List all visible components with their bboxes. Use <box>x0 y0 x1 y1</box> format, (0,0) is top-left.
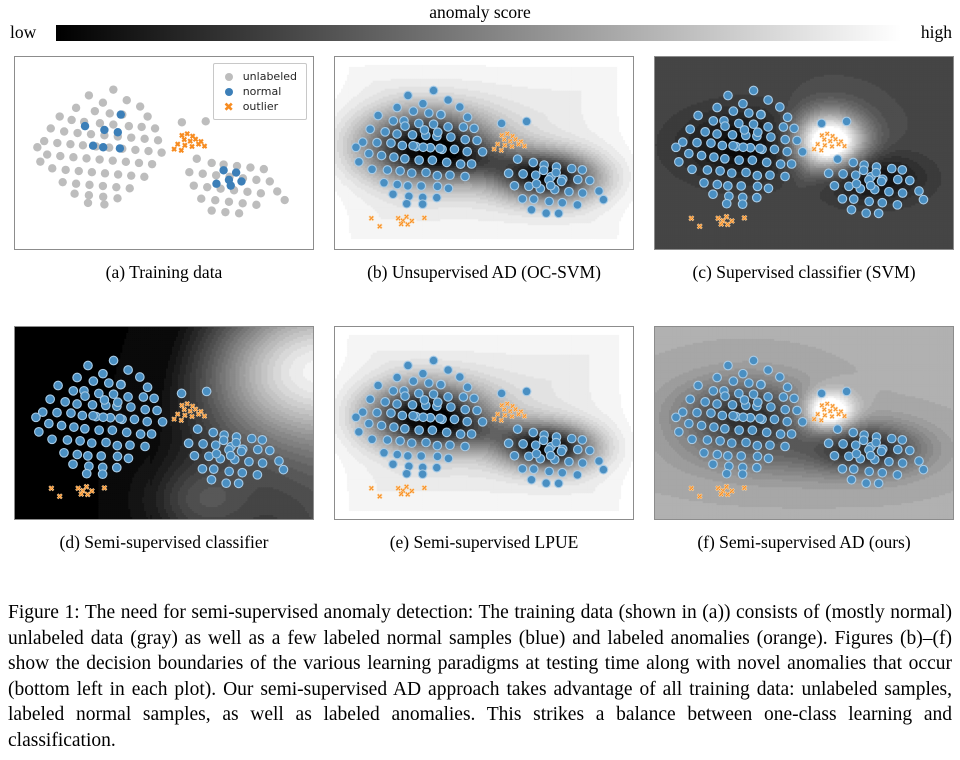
panel-f: (f) Semi-supervised AD (ours) <box>654 326 954 552</box>
panel-d-caption: (d) Semi-supervised classifier <box>14 532 314 552</box>
legend-item-label: unlabeled <box>243 69 297 84</box>
panel-c-contours <box>655 57 953 249</box>
panel-e-plot <box>334 326 634 520</box>
panel-b-caption: (b) Unsupervised AD (OC-SVM) <box>334 262 634 282</box>
legend-dot <box>225 88 233 96</box>
legend-circle-icon <box>220 69 238 84</box>
panel-e: (e) Semi-supervised LPUE <box>334 326 634 552</box>
panel-f-caption: (f) Semi-supervised AD (ours) <box>654 532 954 552</box>
panel-a: unlabelednormal✖outlier(a) Training data <box>14 56 314 282</box>
panel-a-plot: unlabelednormal✖outlier <box>14 56 314 250</box>
panel-grid: unlabelednormal✖outlier(a) Training data… <box>0 56 960 566</box>
panel-b: (b) Unsupervised AD (OC-SVM) <box>334 56 634 282</box>
colorbar-high-label: high <box>921 22 952 42</box>
legend-item-outlier: ✖outlier <box>220 99 297 114</box>
legend-item-label: normal <box>243 84 282 99</box>
colorbar-gradient <box>56 25 901 41</box>
panel-c-plot <box>654 56 954 250</box>
legend-item-normal: normal <box>220 84 297 99</box>
panel-b-plot <box>334 56 634 250</box>
panel-b-contours <box>335 57 633 249</box>
figure-caption: Figure 1: The need for semi-supervised a… <box>8 600 952 754</box>
legend-dot <box>225 73 233 81</box>
panel-a-caption: (a) Training data <box>14 262 314 282</box>
legend-cross-icon: ✖ <box>220 101 238 113</box>
panel-c-caption: (c) Supervised classifier (SVM) <box>654 262 954 282</box>
legend-circle-icon <box>220 84 238 99</box>
scatter-legend: unlabelednormal✖outlier <box>213 63 307 120</box>
panel-d-contours <box>15 327 313 519</box>
panel-d-plot <box>14 326 314 520</box>
panel-d: (d) Semi-supervised classifier <box>14 326 314 552</box>
colorbar-title: anomaly score <box>0 2 960 22</box>
panel-f-plot <box>654 326 954 520</box>
legend-item-unlabeled: unlabeled <box>220 69 297 84</box>
panel-e-caption: (e) Semi-supervised LPUE <box>334 532 634 552</box>
legend-item-label: outlier <box>243 99 278 114</box>
colorbar-block: anomaly score low high <box>0 0 960 52</box>
colorbar-low-label: low <box>10 22 36 42</box>
panel-f-contours <box>655 327 953 519</box>
panel-c: (c) Supervised classifier (SVM) <box>654 56 954 282</box>
panel-e-contours <box>335 327 633 519</box>
